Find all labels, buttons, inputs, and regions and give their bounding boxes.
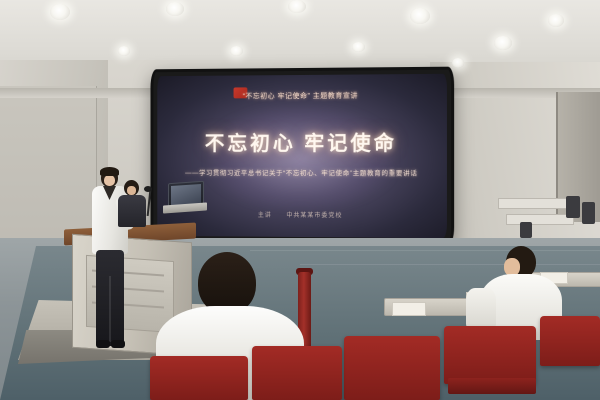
audience-member-front-left-head <box>198 252 256 314</box>
audience-chair-4[interactable] <box>444 326 536 384</box>
presenter-shoe-right <box>111 340 125 348</box>
presenter-shoe-left <box>96 340 110 348</box>
presenter-hair <box>100 167 119 176</box>
presenter-leg-separation <box>109 276 111 342</box>
side-chair-back-3 <box>520 222 532 238</box>
slide-subtitle-text: ——学习贯彻习近平总书记关于“不忘初心、牢记使命”主题教育的重要讲话 <box>157 167 447 177</box>
slide-footer-value: 中共某某市委党校 <box>286 213 342 219</box>
presenter-face <box>104 175 115 186</box>
audience-chair-4-seat[interactable] <box>448 378 536 394</box>
ceiling-light-3 <box>288 0 306 13</box>
assistant-face <box>127 186 136 195</box>
slide-footer-label: 主讲 <box>258 213 272 219</box>
microphone-head-icon <box>144 186 152 192</box>
open-notebook-center <box>392 302 426 316</box>
ceiling-light-10 <box>452 58 464 68</box>
projection-screen: “不忘初心 牢记使命” 主题教育宣讲 不忘初心 牢记使命 ——学习贯彻习近平总书… <box>150 67 454 246</box>
ceiling-light-6 <box>548 14 564 27</box>
audience-chair-2[interactable] <box>252 346 342 400</box>
floor-seam-2 <box>300 264 600 265</box>
side-table-back-right <box>498 198 570 209</box>
slide-header-text: “不忘初心 牢记使命” 主题教育宣讲 <box>157 90 447 102</box>
slide-title-text: 不忘初心 牢记使命 <box>157 127 447 156</box>
projection-surface: “不忘初心 牢记使命” 主题教育宣讲 不忘初心 牢记使命 ——学习贯彻习近平总书… <box>157 74 447 238</box>
audience-chair-1[interactable] <box>150 356 248 400</box>
ceiling-light-9 <box>118 46 130 56</box>
projector-glow <box>208 107 393 208</box>
audience-member-right-arm <box>466 288 496 328</box>
assistant-torso <box>118 195 146 227</box>
ceiling-light-2 <box>166 2 184 16</box>
ceiling-light-8 <box>352 42 365 52</box>
ceiling-light-5 <box>494 36 512 50</box>
side-table-back-right-2 <box>506 214 574 225</box>
ceiling-light-4 <box>410 8 430 24</box>
floor-seam-1 <box>250 250 600 251</box>
side-chair-back-2 <box>582 202 595 224</box>
lecture-hall-photo: “不忘初心 牢记使命” 主题教育宣讲 不忘初心 牢记使命 ——学习贯彻习近平总书… <box>0 0 600 400</box>
side-chair-back-1 <box>566 196 580 218</box>
ceiling-light-1 <box>50 4 70 20</box>
audience-chair-3[interactable] <box>344 336 440 400</box>
audience-chair-5[interactable] <box>540 316 600 366</box>
ceiling-light-7 <box>230 46 243 56</box>
